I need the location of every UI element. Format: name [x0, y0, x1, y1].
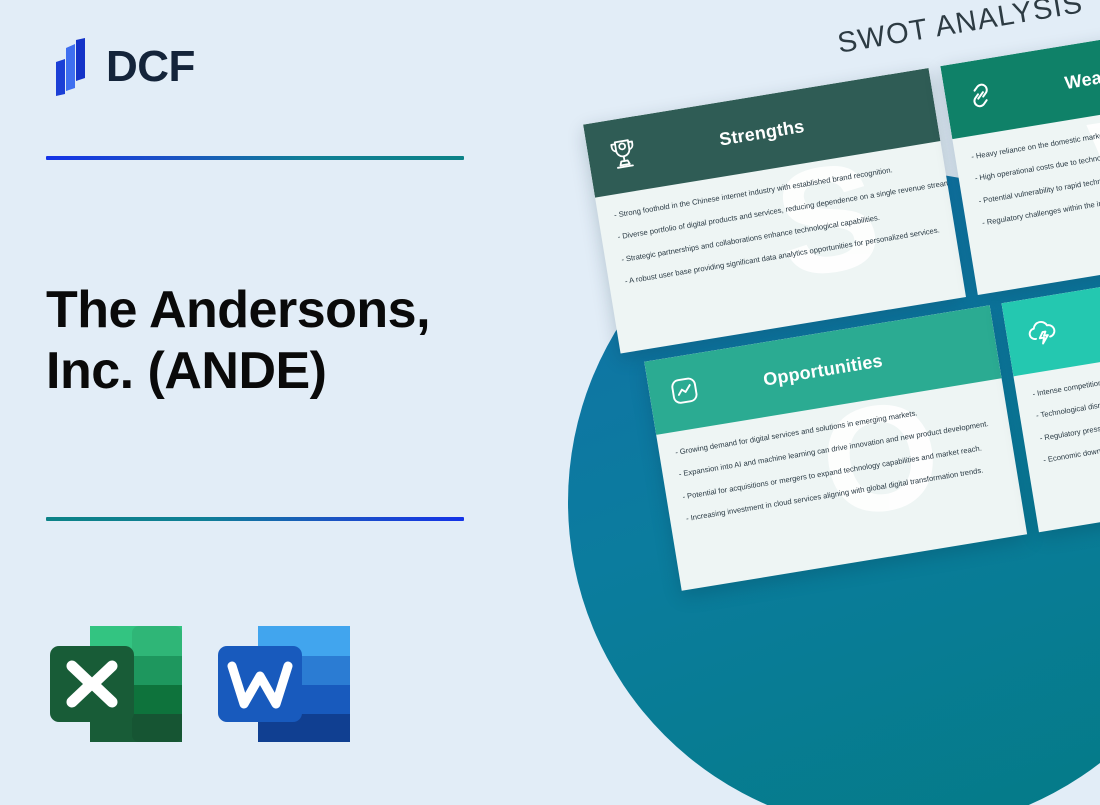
left-panel: DCF The Andersons, Inc. (ANDE) — [0, 0, 560, 805]
excel-file-icon[interactable] — [46, 620, 186, 748]
brand-logo[interactable]: DCF — [46, 38, 195, 96]
swot-card-deck: Strengths S Strong foothold in the Chine… — [583, 34, 1100, 588]
divider-bottom — [46, 517, 464, 521]
swot-card-weaknesses[interactable]: Weaknesses W Heavy reliance on the domes… — [940, 10, 1100, 296]
strengths-title: Strengths — [718, 116, 806, 151]
storm-cloud-icon — [1020, 310, 1064, 354]
weaknesses-title: Weaknesses — [1063, 55, 1100, 93]
swot-graphic: SWOT ANALYSIS — [520, 0, 1100, 805]
dcf-bars-logo-icon — [46, 38, 92, 96]
word-file-icon[interactable] — [214, 620, 354, 748]
page-title: The Andersons, Inc. (ANDE) — [46, 280, 516, 403]
link-chain-icon — [959, 73, 1003, 117]
presentation-slide: SWOT ANALYSIS — [0, 0, 1100, 805]
file-format-icons — [46, 620, 354, 748]
divider-top — [46, 156, 464, 160]
trophy-icon — [601, 132, 645, 176]
swot-card-strengths[interactable]: Strengths S Strong foothold in the Chine… — [583, 68, 966, 354]
opportunities-title: Opportunities — [762, 350, 884, 390]
brand-name: DCF — [106, 45, 195, 89]
trend-chart-icon — [663, 369, 707, 413]
